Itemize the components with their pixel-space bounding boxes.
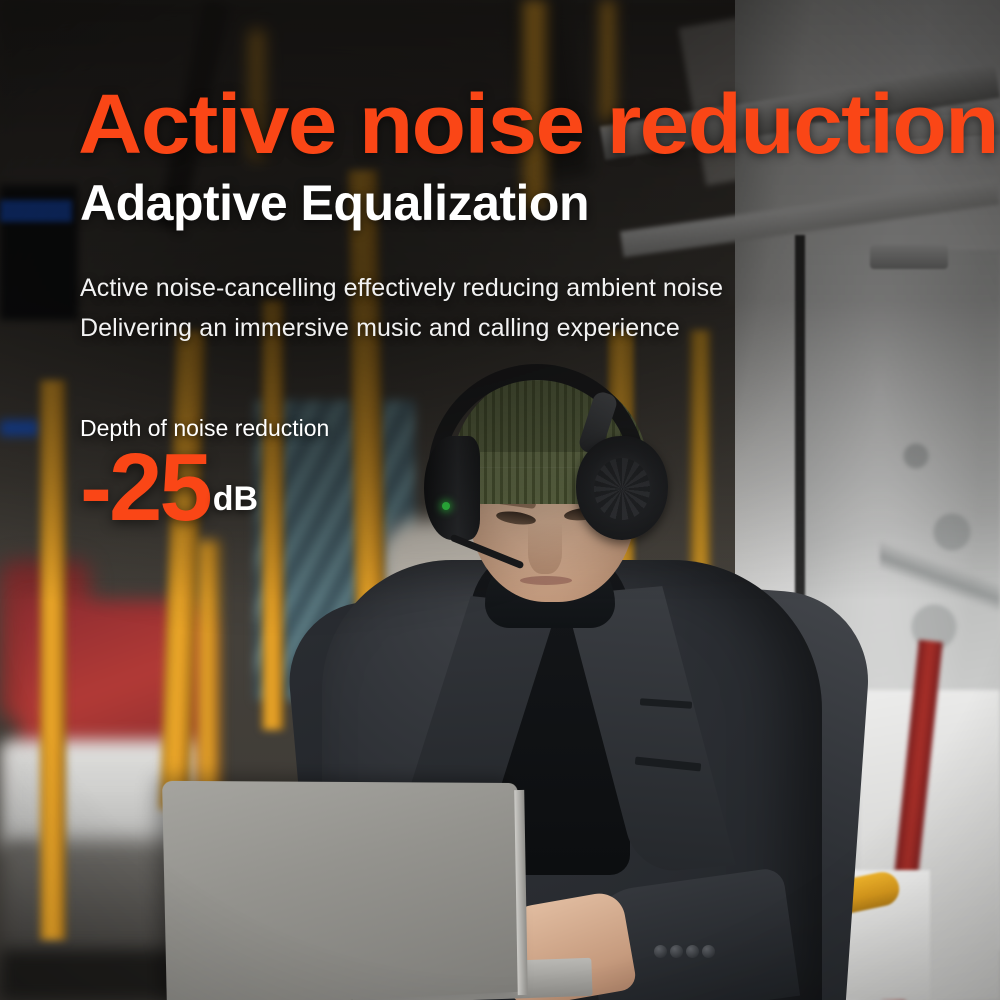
feature-item-2: Delivering an immersive music and callin… [80,308,723,348]
stat-value-group: -25 dB [80,446,329,530]
noise-reduction-stat: Depth of noise reduction -25 dB [80,415,329,530]
subheadline: Adaptive Equalization [80,178,589,228]
headline: Active noise reduction [78,82,998,166]
product-feature-banner: Active noise reduction Adaptive Equaliza… [0,0,1000,1000]
stat-number: -25 [80,446,210,530]
feature-list: Active noise-cancelling effectively redu… [80,268,723,348]
stat-unit: dB [213,480,258,519]
feature-item-1: Active noise-cancelling effectively redu… [80,268,723,308]
marketing-copy: Active noise reduction Adaptive Equaliza… [0,0,1000,1000]
